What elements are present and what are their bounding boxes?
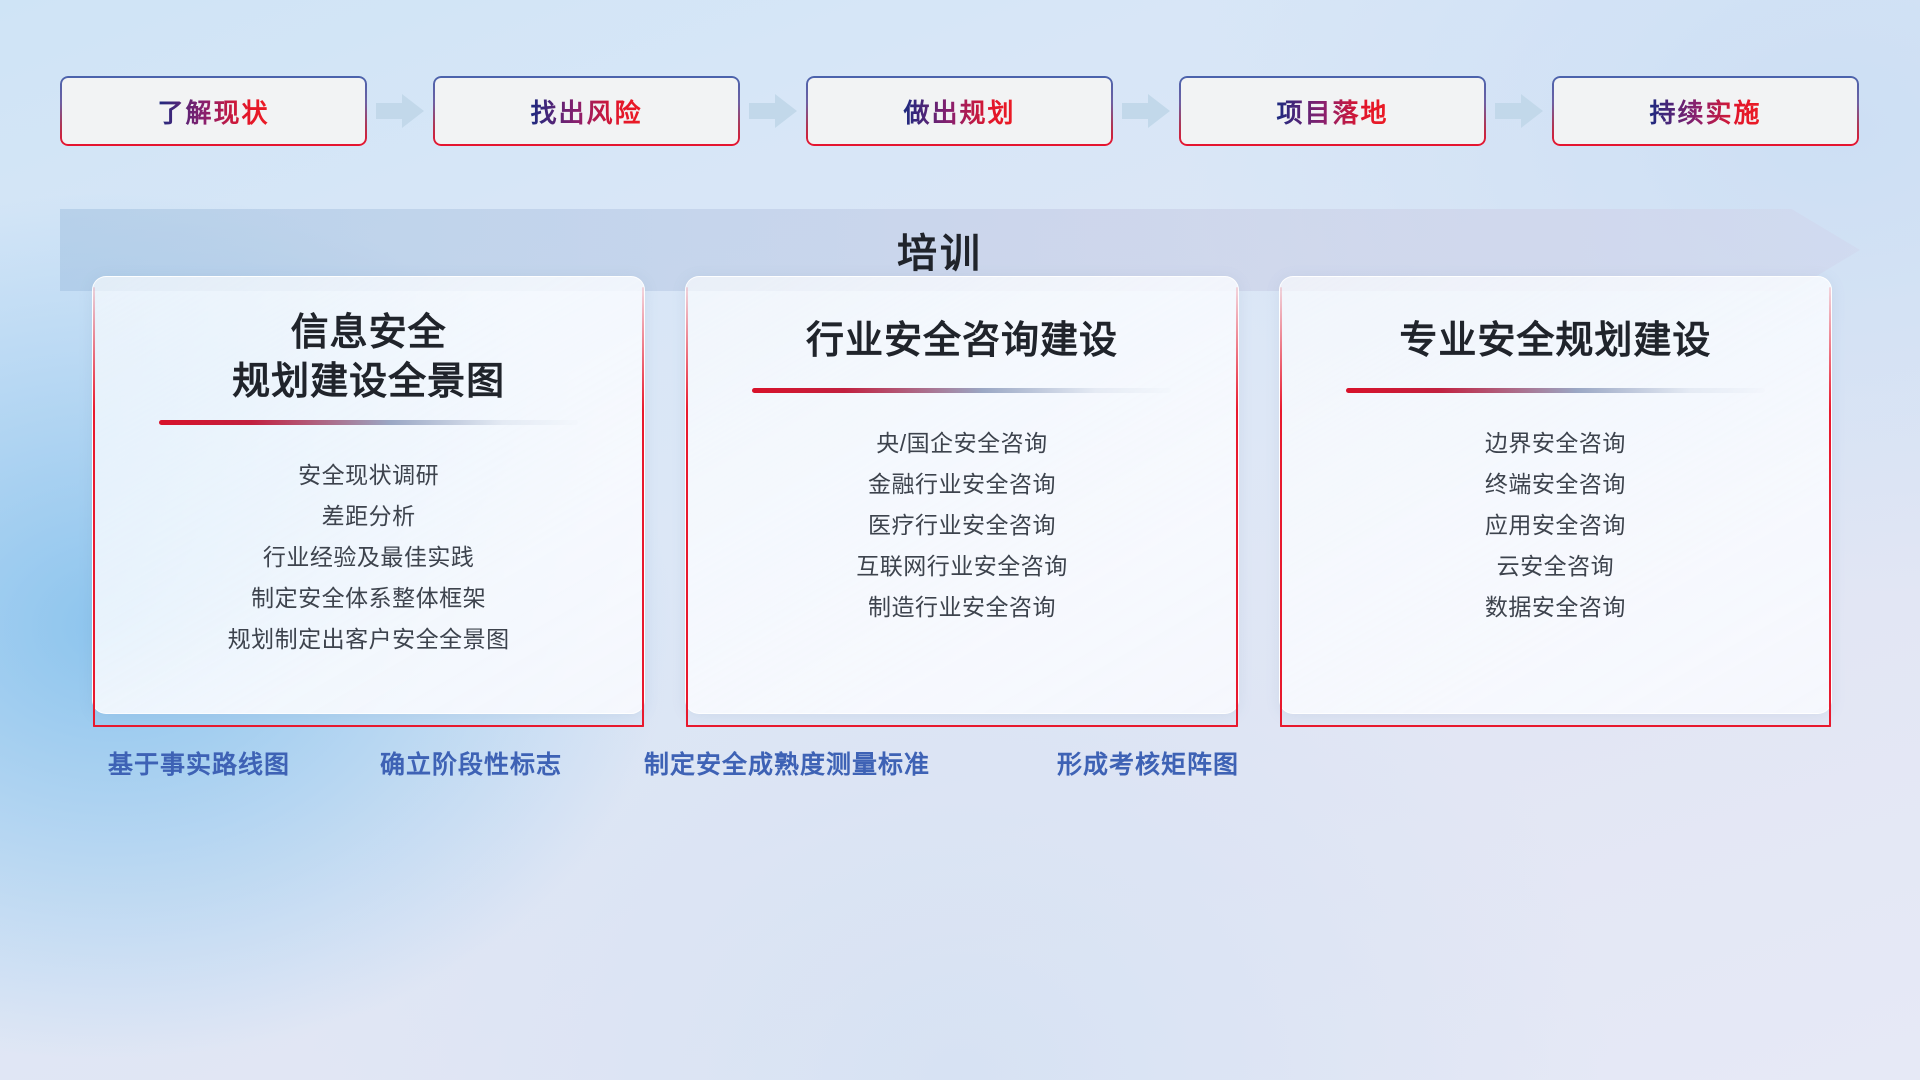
list-item: 行业经验及最佳实践 <box>93 537 644 578</box>
footer-label-2: 确立阶段性标志 <box>380 745 562 781</box>
footer-label-4: 形成考核矩阵图 <box>1057 745 1239 781</box>
step-box-1[interactable]: 了解现状 <box>60 76 367 146</box>
card-accent-edge-left <box>93 287 95 727</box>
step-box-5[interactable]: 持续实施 <box>1552 76 1859 146</box>
card-item-list: 安全现状调研 差距分析 行业经验及最佳实践 制定安全体系整体框架 规划制定出客户… <box>93 455 644 660</box>
card-industry-security-consulting[interactable]: 行业安全咨询建设 央/国企安全咨询 金融行业安全咨询 医疗行业安全咨询 互联网行… <box>685 276 1238 714</box>
list-item: 规划制定出客户安全全景图 <box>93 619 644 660</box>
card-title: 专业安全规划建设 <box>1399 317 1711 366</box>
card-accent-edge-right <box>1829 287 1831 727</box>
list-item: 应用安全咨询 <box>1280 505 1831 546</box>
step-label-1: 了解现状 <box>157 93 269 130</box>
list-item: 央/国企安全咨询 <box>686 423 1237 464</box>
step-arrow-1 <box>367 91 433 131</box>
card-title: 信息安全 规划建设全景图 <box>232 309 505 406</box>
card-information-security-panorama[interactable]: 信息安全 规划建设全景图 安全现状调研 差距分析 行业经验及最佳实践 制定安全体… <box>92 276 645 714</box>
step-label-4: 项目落地 <box>1276 93 1388 130</box>
step-box-4[interactable]: 项目落地 <box>1179 76 1486 146</box>
step-arrow-2 <box>740 91 806 131</box>
card-divider-rule <box>1346 388 1765 393</box>
card-title: 行业安全咨询建设 <box>806 317 1118 366</box>
step-label-2: 找出风险 <box>530 93 642 130</box>
step-arrow-4 <box>1486 91 1552 131</box>
footer-label-3: 制定安全成熟度测量标准 <box>644 745 930 781</box>
list-item: 互联网行业安全咨询 <box>686 546 1237 587</box>
card-professional-security-planning[interactable]: 专业安全规划建设 边界安全咨询 终端安全咨询 应用安全咨询 云安全咨询 数据安全… <box>1279 276 1832 714</box>
step-box-3[interactable]: 做出规划 <box>806 76 1113 146</box>
list-item: 数据安全咨询 <box>1280 587 1831 628</box>
card-group: 信息安全 规划建设全景图 安全现状调研 差距分析 行业经验及最佳实践 制定安全体… <box>92 276 1832 714</box>
footer-label-1: 基于事实路线图 <box>108 745 290 781</box>
step-label-3: 做出规划 <box>903 93 1015 130</box>
step-box-2[interactable]: 找出风险 <box>433 76 740 146</box>
card-accent-edge-right <box>1236 287 1238 727</box>
card-divider-rule <box>752 388 1171 393</box>
card-item-list: 央/国企安全咨询 金融行业安全咨询 医疗行业安全咨询 互联网行业安全咨询 制造行… <box>686 423 1237 628</box>
list-item: 制造行业安全咨询 <box>686 587 1237 628</box>
card-accent-edge-bottom <box>1280 725 1831 727</box>
step-label-5: 持续实施 <box>1649 93 1761 130</box>
list-item: 云安全咨询 <box>1280 546 1831 587</box>
step-arrow-3 <box>1113 91 1179 131</box>
card-accent-edge-bottom <box>93 725 644 727</box>
footer-label-row: 基于事实路线图 确立阶段性标志 制定安全成熟度测量标准 形成考核矩阵图 <box>0 745 1920 795</box>
process-step-row: 了解现状 找出风险 做出规划 项目落地 持续实施 <box>60 76 1860 146</box>
list-item: 制定安全体系整体框架 <box>93 578 644 619</box>
list-item: 医疗行业安全咨询 <box>686 505 1237 546</box>
list-item: 差距分析 <box>93 496 644 537</box>
card-divider-rule <box>159 420 578 425</box>
card-accent-edge-left <box>1280 287 1282 727</box>
card-accent-edge-bottom <box>686 725 1237 727</box>
list-item: 边界安全咨询 <box>1280 423 1831 464</box>
card-item-list: 边界安全咨询 终端安全咨询 应用安全咨询 云安全咨询 数据安全咨询 <box>1280 423 1831 628</box>
list-item: 终端安全咨询 <box>1280 464 1831 505</box>
list-item: 金融行业安全咨询 <box>686 464 1237 505</box>
list-item: 安全现状调研 <box>93 455 644 496</box>
